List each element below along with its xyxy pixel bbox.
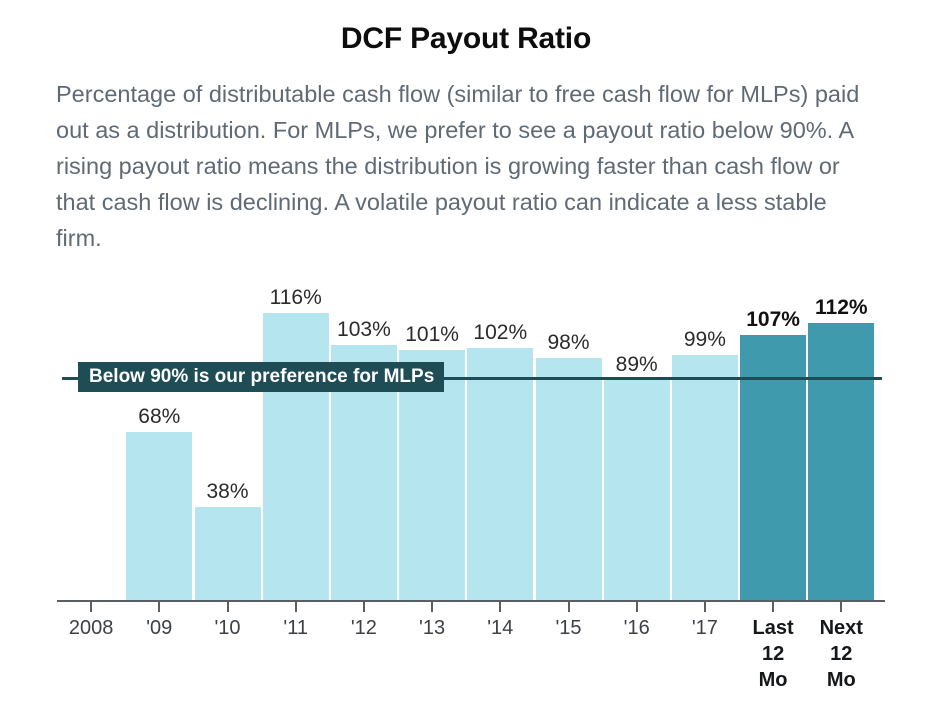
x-axis-tick xyxy=(636,602,638,612)
chart-plot-area: 68%38%116%103%101%102%98%89%99%107%112% … xyxy=(0,0,932,706)
x-axis-tick xyxy=(840,602,842,612)
bar-value-label: 107% xyxy=(739,308,807,332)
bar-16 xyxy=(604,380,670,601)
x-axis-tick-label: '12 xyxy=(330,615,398,641)
x-axis-tick-label: 2008 xyxy=(57,615,125,641)
bar-last-12-mo xyxy=(740,335,806,601)
bar-value-label: 103% xyxy=(330,318,398,342)
x-axis-tick-label: Next12Mo xyxy=(807,615,875,693)
x-axis-tick-label: Last12Mo xyxy=(739,615,807,693)
x-axis-tick xyxy=(704,602,706,612)
x-axis-tick-label: '17 xyxy=(671,615,739,641)
x-axis-tick xyxy=(295,602,297,612)
x-axis-tick xyxy=(227,602,229,612)
bar-next-12-mo xyxy=(808,323,874,601)
bar-value-label: 112% xyxy=(807,296,875,320)
x-axis-tick xyxy=(90,602,92,612)
x-axis-tick-label: '14 xyxy=(466,615,534,641)
x-axis-tick-label: '09 xyxy=(125,615,193,641)
bar-value-label: 99% xyxy=(671,328,739,352)
x-axis-tick-label: '15 xyxy=(534,615,602,641)
x-axis-tick-label: '11 xyxy=(262,615,330,641)
bar-value-label: 38% xyxy=(193,480,261,504)
bar-17 xyxy=(672,355,738,601)
bar-value-label: 68% xyxy=(125,405,193,429)
reference-line-annotation: Below 90% is our preference for MLPs xyxy=(78,362,444,392)
bar-value-label: 98% xyxy=(534,331,602,355)
x-axis-tick xyxy=(431,602,433,612)
x-axis-tick-label: '13 xyxy=(398,615,466,641)
bar-value-label: 102% xyxy=(466,321,534,345)
bar-value-label: 116% xyxy=(262,286,330,310)
bar-09 xyxy=(126,432,192,601)
bar-value-label: 89% xyxy=(603,353,671,377)
bar-value-label: 101% xyxy=(398,323,466,347)
x-axis-tick-label: '10 xyxy=(193,615,261,641)
x-axis-tick xyxy=(772,602,774,612)
bar-14 xyxy=(467,348,533,601)
x-axis-tick xyxy=(158,602,160,612)
x-axis-tick xyxy=(499,602,501,612)
bar-11 xyxy=(263,313,329,601)
x-axis-tick xyxy=(363,602,365,612)
dcf-payout-ratio-chart-card: DCF Payout Ratio Percentage of distribut… xyxy=(0,0,932,706)
x-axis-tick-label: '16 xyxy=(603,615,671,641)
x-axis-tick xyxy=(568,602,570,612)
bar-10 xyxy=(195,507,261,601)
x-axis-line xyxy=(57,600,885,602)
bar-15 xyxy=(536,358,602,601)
